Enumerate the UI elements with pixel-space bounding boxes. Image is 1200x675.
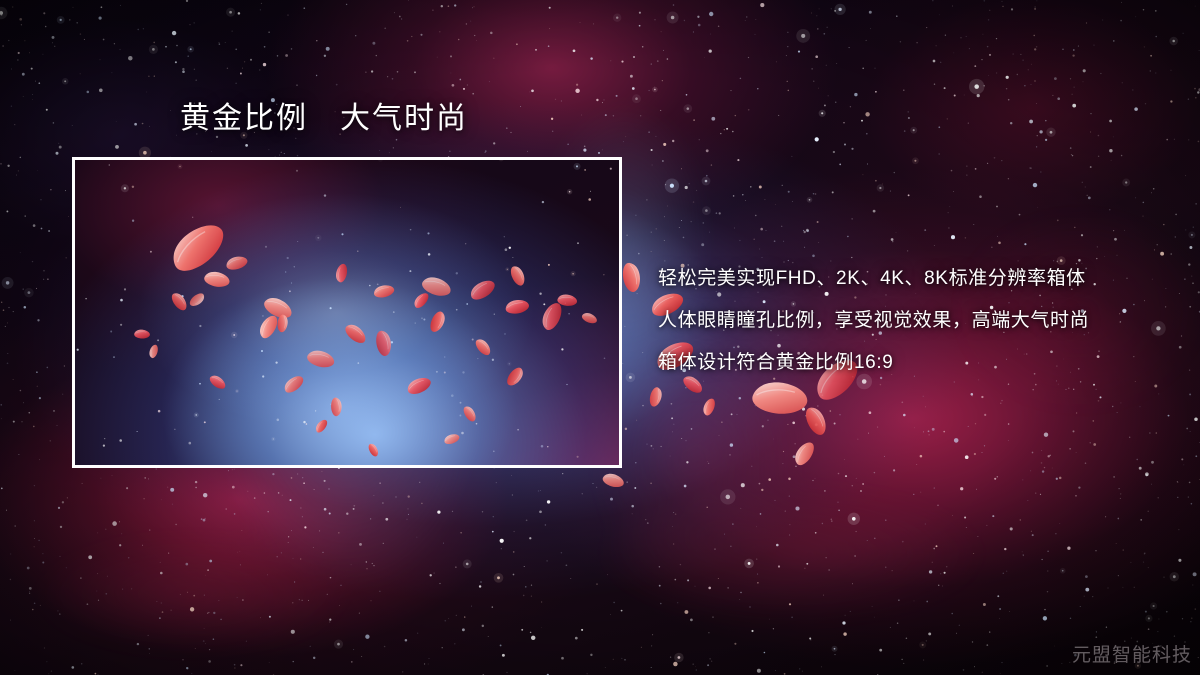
watermark: 元盟智能科技: [1072, 640, 1192, 667]
photo-starfield: [72, 157, 622, 468]
body-line: 轻松完美实现FHD、2K、4K、8K标准分辨率箱体: [658, 258, 1168, 300]
body-copy-block: 轻松完美实现FHD、2K、4K、8K标准分辨率箱体 人体眼睛瞳孔比例，享受视觉效…: [658, 258, 1168, 384]
photo-nebula-layer: [72, 157, 622, 468]
body-line: 箱体设计符合黄金比例16:9: [658, 342, 1168, 384]
body-line: 人体眼睛瞳孔比例，享受视觉效果，高端大气时尚: [658, 300, 1168, 342]
presentation-slide: 黄金比例 大气时尚 轻松完美实现FHD、2K、4K、8K标准分辨率箱体 人体眼睛…: [0, 0, 1200, 675]
galaxy-petals-photo-frame: [72, 157, 622, 468]
page-title: 黄金比例 大气时尚: [180, 100, 468, 138]
photo-inner-canvas: [72, 157, 622, 468]
